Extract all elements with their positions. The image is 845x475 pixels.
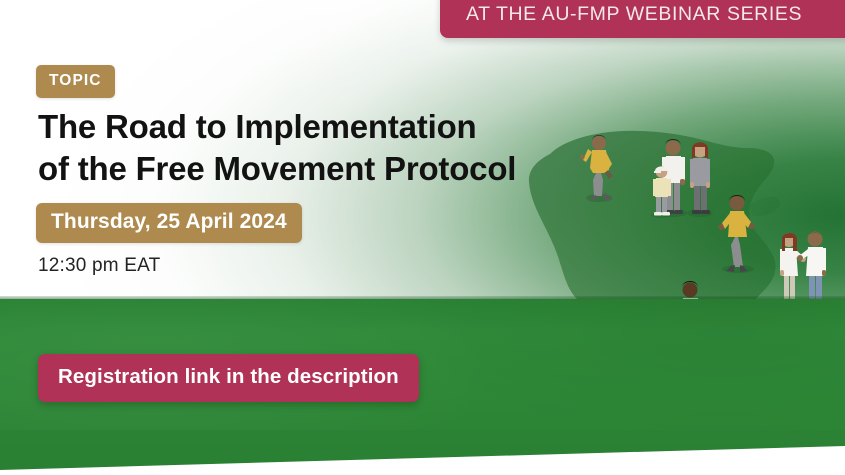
webinar-promo-poster: SHAPE THE FUTURE OF AFRICA AT THE AU-FMP… (0, 0, 845, 475)
registration-link-banner: Registration link in the description (38, 354, 419, 402)
headline-line-1: The Road to Implementation (38, 106, 598, 148)
date-badge: Thursday, 25 April 2024 (36, 203, 302, 243)
topic-badge: TOPIC (36, 65, 115, 98)
page-title: The Road to Implementation of the Free M… (38, 106, 598, 190)
top-banner-line-2: AT THE AU-FMP WEBINAR SERIES (466, 1, 839, 28)
top-maroon-banner: SHAPE THE FUTURE OF AFRICA AT THE AU-FMP… (440, 0, 845, 38)
time-text: 12:30 pm EAT (38, 255, 160, 277)
headline-line-2: of the Free Movement Protocol (38, 148, 598, 190)
